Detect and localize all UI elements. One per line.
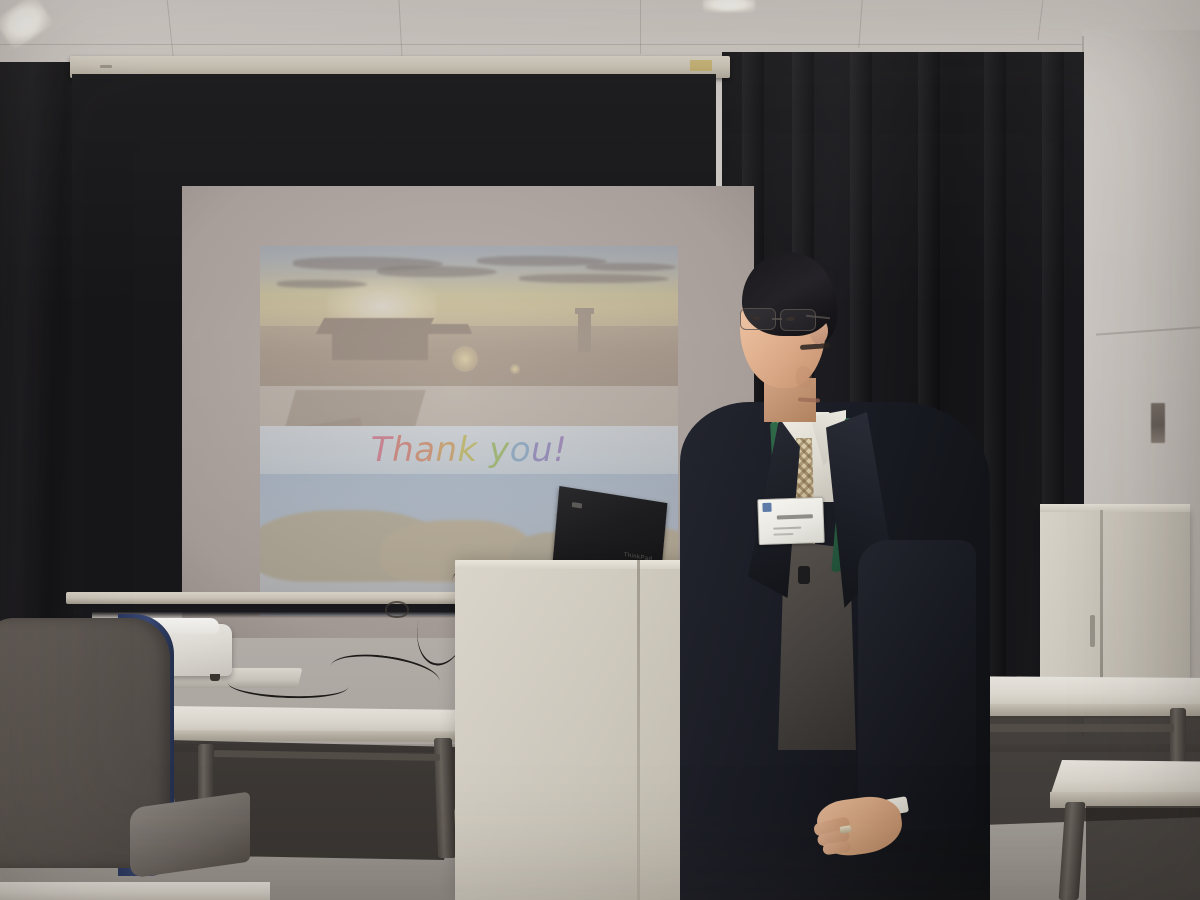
presenter [690, 240, 990, 900]
podium-seam [637, 560, 640, 900]
eyeglasses-bridge [772, 318, 782, 320]
thank-you-letter: y [489, 430, 510, 470]
screen-pull-ring[interactable] [385, 601, 409, 618]
desk-edge [165, 730, 475, 742]
ceiling-light [703, 0, 755, 12]
name-badge [757, 497, 825, 545]
skyline-tower [578, 312, 591, 352]
thank-you-letter: ! [553, 430, 567, 470]
thank-you-letter: h [392, 430, 414, 470]
laptop-logo [572, 502, 582, 509]
desk-shadow [1086, 806, 1200, 900]
slide-top-photo [260, 246, 678, 388]
housing-label [690, 60, 712, 71]
badge-logo [762, 503, 771, 512]
eyeglasses-lens [780, 309, 816, 331]
thank-you-text: Thank you! [371, 430, 567, 470]
thank-you-letter: u [531, 430, 553, 470]
presentation-room-photo: Thank you! [0, 0, 1200, 900]
housing-marking [100, 65, 112, 68]
desk-top [165, 706, 475, 734]
thank-you-letter: n [435, 430, 457, 470]
desk-top [1050, 760, 1200, 796]
eyeglasses-lens [740, 308, 776, 330]
cabinet-handle[interactable] [1090, 615, 1095, 647]
desk-brace [958, 724, 1174, 732]
nose [796, 366, 812, 388]
thank-you-letter: T [371, 430, 392, 470]
thank-you-band: Thank you! [260, 426, 678, 474]
thank-you-letter [478, 430, 489, 470]
desk-top [0, 882, 270, 900]
suit-arm [858, 540, 976, 830]
cabinet-top [1040, 504, 1190, 512]
lens-flare [510, 364, 520, 374]
storage-cabinet [1040, 510, 1190, 690]
eyebrow [800, 343, 830, 350]
cabinet-door-split [1100, 510, 1103, 690]
thank-you-letter: a [414, 430, 435, 470]
thank-you-letter: o [510, 430, 531, 470]
light-switch[interactable] [1151, 403, 1165, 443]
lens-flare [452, 346, 478, 372]
ceiling-tile-seam [640, 0, 641, 54]
lanyard-clip [798, 566, 810, 584]
ceiling-tile-seam [0, 44, 1200, 45]
thank-you-letter: k [458, 430, 478, 470]
